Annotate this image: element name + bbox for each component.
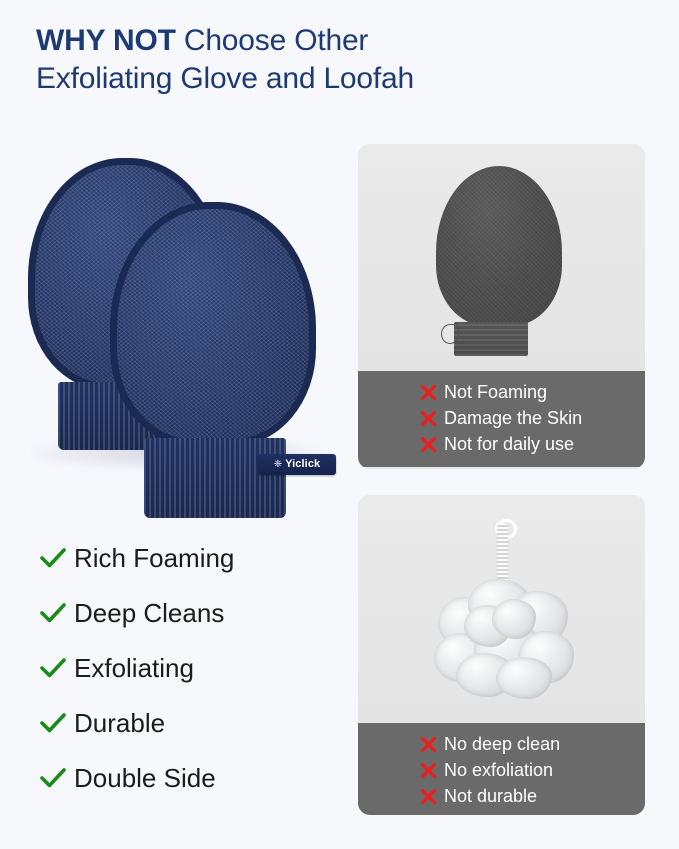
check-icon (40, 657, 74, 679)
check-icon (40, 767, 74, 789)
x-mark-icon (420, 762, 444, 779)
list-item: Not Foaming (358, 379, 645, 405)
brand-name: Yiclick (285, 459, 320, 470)
list-item: Damage the Skin (358, 405, 645, 431)
comparison-panel-gray-glove: Not Foaming Damage the Skin Not for dail… (358, 144, 645, 469)
benefit-label: Exfoliating (74, 655, 194, 681)
check-icon (40, 547, 74, 569)
loofah-photo (358, 495, 645, 723)
benefit-label: Double Side (74, 765, 216, 791)
x-mark-icon (420, 736, 444, 753)
cons-band: Not Foaming Damage the Skin Not for dail… (358, 371, 645, 467)
con-label: Not durable (444, 787, 537, 805)
con-label: No deep clean (444, 735, 560, 753)
page-title: WHY NOT Choose Other Exfoliating Glove a… (36, 22, 656, 98)
gray-mitt-cuff (454, 322, 528, 356)
check-icon (40, 712, 74, 734)
headline-line-1: WHY NOT Choose Other (36, 22, 656, 60)
x-mark-icon (420, 788, 444, 805)
gray-mitt-pad (436, 166, 562, 326)
comparison-panel-loofah: No deep clean No exfoliation Not durable (358, 495, 645, 815)
gray-mitt-hang-loop-icon (441, 324, 459, 344)
headline-line-2: Exfoliating Glove and Loofah (36, 60, 656, 98)
gray-glove-photo (358, 144, 645, 371)
list-item: Rich Foaming (40, 530, 350, 585)
brand-logo-icon: ❈ (274, 460, 282, 470)
x-mark-icon (420, 384, 444, 401)
mitt-cuff (144, 438, 286, 518)
list-item: Durable (40, 695, 350, 750)
con-label: Damage the Skin (444, 409, 582, 427)
headline-emphasis: WHY NOT (36, 24, 176, 57)
check-icon (40, 602, 74, 624)
list-item: Not for daily use (358, 431, 645, 457)
con-label: No exfoliation (444, 761, 553, 779)
list-item: Not durable (358, 783, 645, 809)
con-label: Not for daily use (444, 435, 574, 453)
list-item: Exfoliating (40, 640, 350, 695)
cons-band: No deep clean No exfoliation Not durable (358, 723, 645, 815)
x-mark-icon (420, 436, 444, 453)
benefit-label: Durable (74, 710, 165, 736)
benefit-label: Rich Foaming (74, 545, 234, 571)
con-label: Not Foaming (444, 383, 547, 401)
headline-rest: Choose Other (176, 24, 369, 57)
list-item: No exfoliation (358, 757, 645, 783)
list-item: Double Side (40, 750, 350, 805)
mitt-pad (110, 202, 316, 446)
x-mark-icon (420, 410, 444, 427)
list-item: Deep Cleans (40, 585, 350, 640)
list-item: No deep clean (358, 731, 645, 757)
benefit-label: Deep Cleans (74, 600, 224, 626)
loofah-mesh-ball (434, 571, 574, 699)
benefits-list: Rich Foaming Deep Cleans Exfoliating Dur… (40, 530, 350, 805)
brand-label: ❈ Yiclick (258, 454, 336, 475)
